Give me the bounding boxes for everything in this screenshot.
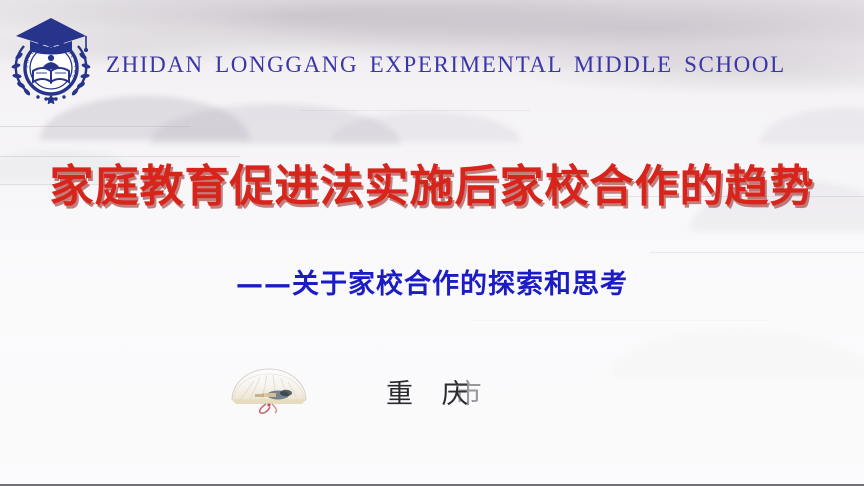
presenter-name: 重 庆市 bbox=[386, 372, 492, 411]
background-mist-line bbox=[0, 126, 190, 127]
school-name-heading: ZHIDAN LONGGANG EXPERIMENTAL MIDDLE SCHO… bbox=[106, 52, 786, 78]
background-mist-line bbox=[300, 110, 530, 111]
school-crest-icon: Z H I D A N X I A O X U E X I A O bbox=[8, 16, 94, 104]
folding-fan-icon bbox=[226, 366, 312, 414]
page-subtitle: ——关于家校合作的探索和思考 bbox=[0, 262, 864, 301]
presentation-slide: Z H I D A N X I A O X U E X I A O bbox=[0, 0, 864, 486]
presenter-name-overlap-glyph: 市 bbox=[455, 379, 492, 410]
page-title: 家庭教育促进法实施后家校合作的趋势 bbox=[0, 150, 864, 214]
background-mist-line bbox=[650, 252, 864, 253]
background-mist-line bbox=[470, 320, 770, 321]
